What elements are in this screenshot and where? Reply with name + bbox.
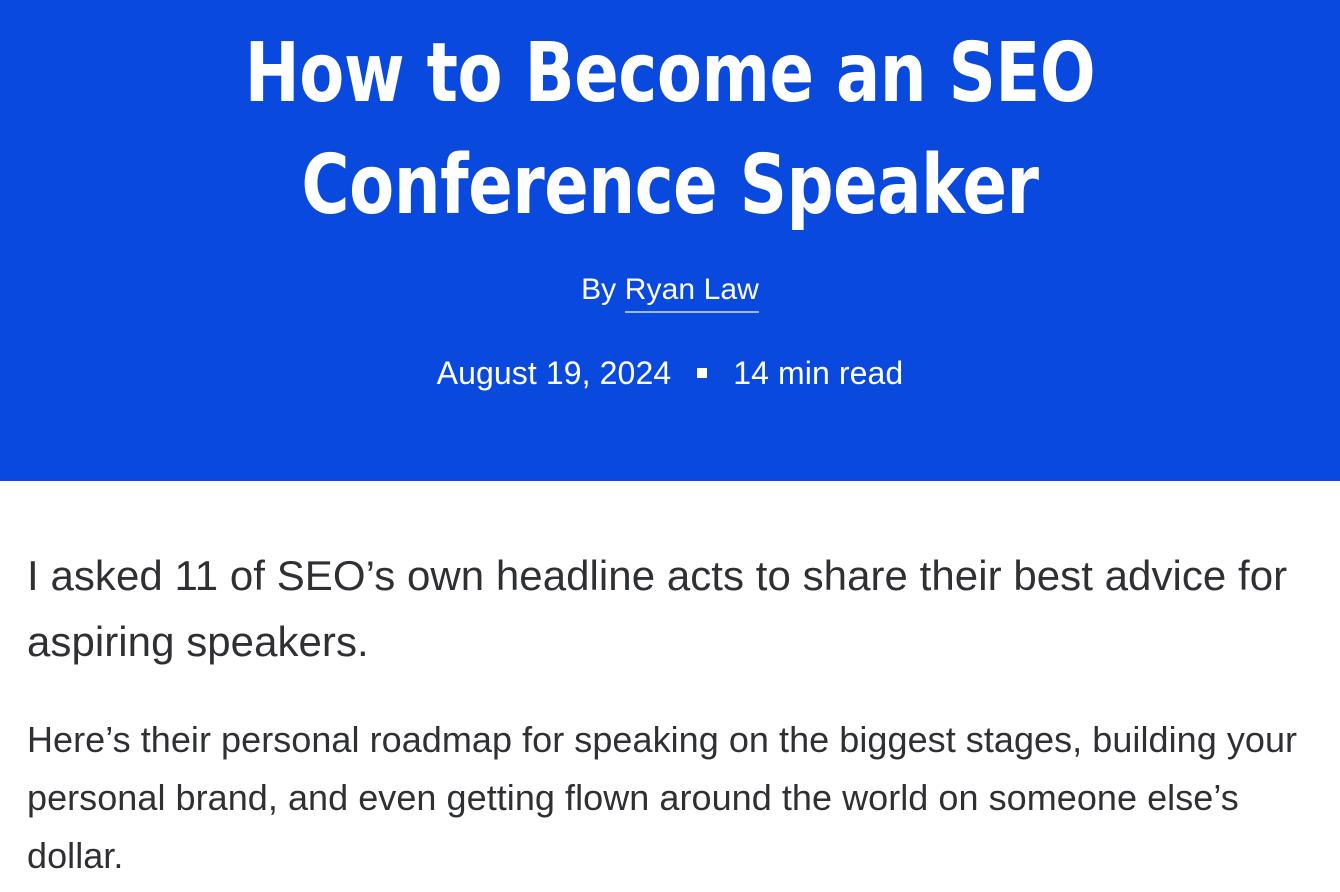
- byline: By Ryan Law: [80, 272, 1260, 308]
- article-paragraph: Here’s their personal roadmap for speaki…: [27, 675, 1309, 885]
- square-bullet-icon: [697, 368, 707, 378]
- page-title: How to Become an SEO Conference Speaker: [198, 18, 1142, 242]
- article-body: I asked 11 of SEO’s own headline acts to…: [0, 481, 1340, 885]
- article-meta: August 19, 2024 14 min read: [80, 354, 1260, 392]
- article-lede: I asked 11 of SEO’s own headline acts to…: [27, 481, 1309, 675]
- hero-content-wrapper: How to Become an SEO Conference Speaker …: [80, 0, 1260, 392]
- author-link[interactable]: Ryan Law: [625, 273, 759, 313]
- article-hero-header: How to Become an SEO Conference Speaker …: [0, 0, 1340, 481]
- byline-prefix: By: [581, 273, 625, 306]
- page-title-line-1: How to Become an SEO: [198, 18, 1142, 130]
- page-title-line-2: Conference Speaker: [198, 130, 1142, 242]
- publish-date: August 19, 2024: [437, 354, 672, 392]
- read-time: 14 min read: [733, 354, 903, 392]
